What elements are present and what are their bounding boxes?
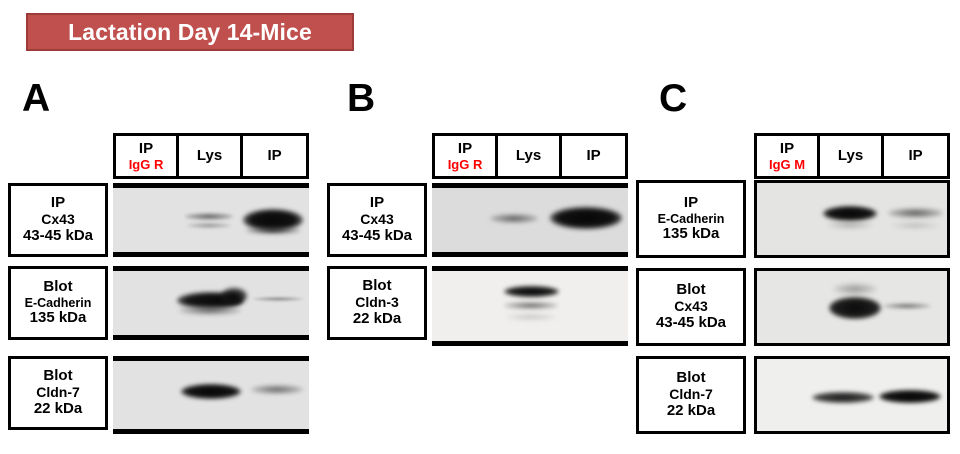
- panel-a-lane-ip: IP: [243, 136, 306, 176]
- panel-b-row-label-1-line1: IP: [370, 195, 384, 212]
- panel-a-blot-2-band-lys-hook: [221, 288, 247, 304]
- panel-c-lane-ip: IP: [884, 136, 947, 176]
- panel-a-blot-3-band-lys: [181, 384, 241, 399]
- panel-c-blot-3-band-ip: [879, 390, 941, 403]
- panel-b-blot-2-band-lys-smear: [506, 314, 556, 320]
- panel-c-blot-1: [754, 180, 950, 258]
- panel-b-row-label-1-line2: Cx43: [360, 212, 393, 228]
- panel-a-lane-header: IP IgG R Lys IP: [113, 133, 309, 179]
- panel-c-lane-igg-sub: IgG M: [769, 158, 805, 171]
- panel-a-row-label-1-line1: IP: [51, 195, 65, 212]
- panel-c-blot-2-band-lys-top: [833, 283, 877, 295]
- panel-b-lane-ip: IP: [562, 136, 625, 176]
- panel-c-row-label-2-line3: 43-45 kDa: [656, 315, 726, 332]
- panel-b-lane-lys: Lys: [498, 136, 562, 176]
- panel-a-row-label-3-line3: 22 kDa: [34, 401, 82, 418]
- panel-b-blot-2-film: [432, 266, 628, 346]
- panel-a-lane-lys-main: Lys: [197, 148, 222, 163]
- panel-c-row-label-2: Blot Cx43 43-45 kDa: [636, 268, 746, 346]
- panel-c-blot-1-band-lys-smear: [827, 221, 873, 229]
- panel-letter-b: B: [347, 79, 375, 118]
- panel-c-row-label-2-line2: Cx43: [674, 299, 707, 315]
- panel-a-row-label-3: Blot Cldn-7 22 kDa: [8, 356, 108, 430]
- panel-c-row-label-2-line1: Blot: [676, 282, 705, 299]
- panel-b-blot-2-band-lys-upper: [504, 286, 559, 297]
- panel-c-row-label-3-line2: Cldn-7: [669, 387, 713, 403]
- panel-a-row-label-3-line1: Blot: [43, 368, 72, 385]
- panel-c-lane-header: IP IgG M Lys IP: [754, 133, 950, 179]
- panel-a-lane-lys: Lys: [179, 136, 243, 176]
- panel-c-row-label-3: Blot Cldn-7 22 kDa: [636, 356, 746, 434]
- panel-a-blot-2: [113, 266, 309, 340]
- panel-a-row-label-2: Blot E-Cadherin 135 kDa: [8, 266, 108, 340]
- panel-b-blot-2-band-lys-lower: [504, 302, 558, 309]
- panel-a-lane-igg-main: IP: [139, 141, 153, 156]
- panel-a-row-label-1-line2: Cx43: [41, 212, 74, 228]
- panel-b-blot-2: [432, 266, 628, 346]
- panel-a-blot-1-film: [113, 183, 309, 257]
- panel-b-lane-igg-main: IP: [458, 141, 472, 156]
- panel-a-blot-1: [113, 183, 309, 257]
- panel-a-blot-1-band-lys-upper: [185, 213, 233, 220]
- panel-letter-c: C: [659, 79, 687, 118]
- panel-a-row-label-1: IP Cx43 43-45 kDa: [8, 183, 108, 257]
- panel-b-lane-ip-main: IP: [586, 148, 600, 163]
- panel-b-row-label-2-line2: Cldn-3: [355, 295, 399, 311]
- panel-c-row-label-1-line3: 135 kDa: [663, 226, 720, 243]
- panel-a-lane-igg-sub: IgG R: [129, 158, 164, 171]
- figure-title-banner: Lactation Day 14-Mice: [26, 13, 354, 51]
- panel-a-lane-ip-main: IP: [267, 148, 281, 163]
- panel-c-blot-1-film: [757, 183, 947, 255]
- panel-a-row-label-2-line1: Blot: [43, 279, 72, 296]
- panel-c-blot-2-band-ip: [883, 303, 931, 309]
- panel-a-blot-3-film: [113, 356, 309, 434]
- panel-a-row-label-2-line3: 135 kDa: [30, 310, 87, 327]
- panel-b-row-label-1-line3: 43-45 kDa: [342, 228, 412, 245]
- panel-b-lane-igg: IP IgG R: [435, 136, 498, 176]
- panel-c-row-label-3-line1: Blot: [676, 370, 705, 387]
- panel-b-blot-1-film: [432, 183, 628, 257]
- panel-a-blot-1-band-ip-shadow: [246, 227, 300, 234]
- figure-title-text: Lactation Day 14-Mice: [68, 19, 312, 46]
- panel-c-blot-2-film: [757, 271, 947, 343]
- panel-a-row-label-3-line2: Cldn-7: [36, 385, 80, 401]
- panel-c-blot-3: [754, 356, 950, 434]
- panel-a-blot-2-band-lys-shadow: [179, 306, 241, 315]
- panel-c-lane-lys-main: Lys: [838, 148, 863, 163]
- panel-a-lane-igg: IP IgG R: [116, 136, 179, 176]
- panel-a-blot-3-band-ip: [251, 385, 303, 394]
- panel-b-row-label-2-line3: 22 kDa: [353, 311, 401, 328]
- panel-c-row-label-1-line1: IP: [684, 195, 698, 212]
- panel-c-row-label-1-line2: E-Cadherin: [658, 212, 725, 226]
- panel-b-row-label-2: Blot Cldn-3 22 kDa: [327, 266, 427, 340]
- panel-a-blot-1-band-lys-lower: [187, 223, 231, 228]
- panel-c-lane-igg: IP IgG M: [757, 136, 820, 176]
- panel-a-row-label-2-line2: E-Cadherin: [25, 296, 92, 310]
- panel-c-lane-ip-main: IP: [908, 148, 922, 163]
- panel-b-blot-1-band-ip: [550, 207, 622, 229]
- panel-c-row-label-3-line3: 22 kDa: [667, 403, 715, 420]
- panel-b-row-label-1: IP Cx43 43-45 kDa: [327, 183, 427, 257]
- panel-c-lane-lys: Lys: [820, 136, 884, 176]
- panel-c-row-label-1: IP E-Cadherin 135 kDa: [636, 180, 746, 258]
- panel-c-lane-igg-main: IP: [780, 141, 794, 156]
- panel-c-blot-1-band-lys: [823, 206, 877, 221]
- panel-a-blot-2-band-ip: [253, 297, 303, 301]
- panel-c-blot-3-band-lys: [812, 392, 874, 403]
- panel-b-row-label-2-line1: Blot: [362, 278, 391, 295]
- panel-letter-a: A: [22, 79, 50, 118]
- panel-b-blot-1-band-lys: [490, 214, 538, 223]
- panel-a-blot-2-film: [113, 266, 309, 340]
- panel-c-blot-3-film: [757, 359, 947, 431]
- panel-c-blot-2-band-lys: [829, 297, 881, 319]
- panel-b-lane-header: IP IgG R Lys IP: [432, 133, 628, 179]
- panel-a-row-label-1-line3: 43-45 kDa: [23, 228, 93, 245]
- panel-b-lane-lys-main: Lys: [516, 148, 541, 163]
- panel-c-blot-1-band-ip: [888, 208, 943, 218]
- panel-c-blot-1-band-ip-smear: [891, 222, 939, 229]
- panel-a-blot-3: [113, 356, 309, 434]
- panel-b-blot-1: [432, 183, 628, 257]
- panel-b-lane-igg-sub: IgG R: [448, 158, 483, 171]
- panel-c-blot-2: [754, 268, 950, 346]
